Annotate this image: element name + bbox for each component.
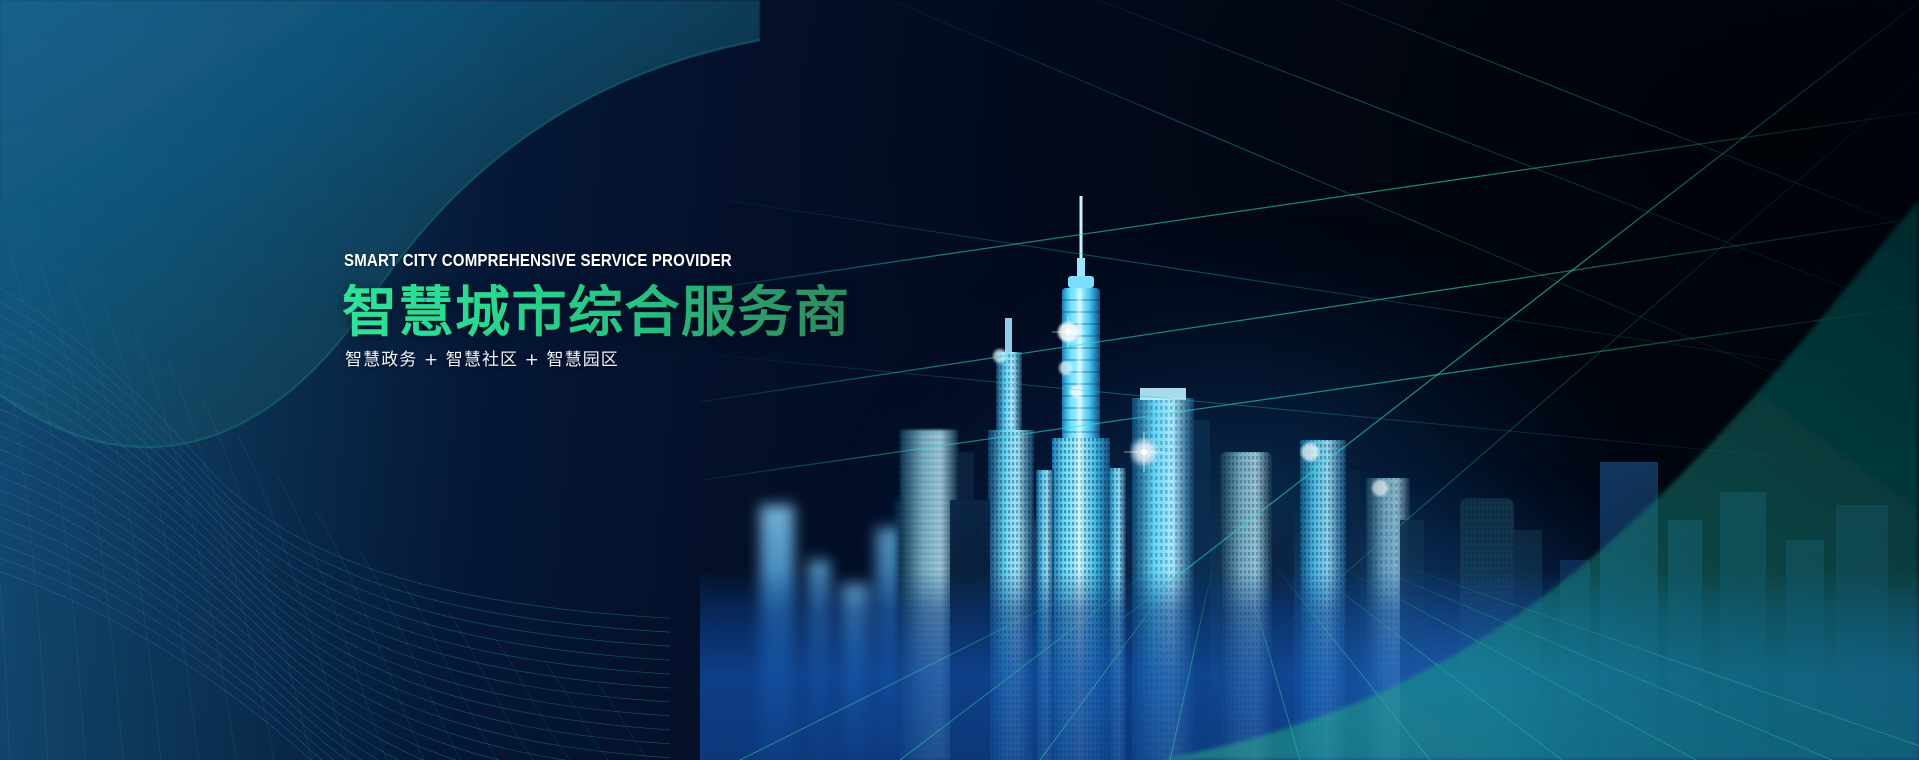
hero-copy-block: SMART CITY COMPREHENSIVE SERVICE PROVIDE… xyxy=(342,252,851,369)
green-corner-overlay xyxy=(1159,200,1919,760)
banner-eyebrow-tagline: SMART CITY COMPREHENSIVE SERVICE PROVIDE… xyxy=(344,252,780,270)
smart-city-hero-banner: SMART CITY COMPREHENSIVE SERVICE PROVIDE… xyxy=(0,0,1919,760)
banner-subcopy: 智慧政务 + 智慧社区 + 智慧园区 xyxy=(345,352,851,369)
banner-headline: 智慧城市综合服务商 xyxy=(342,284,851,340)
